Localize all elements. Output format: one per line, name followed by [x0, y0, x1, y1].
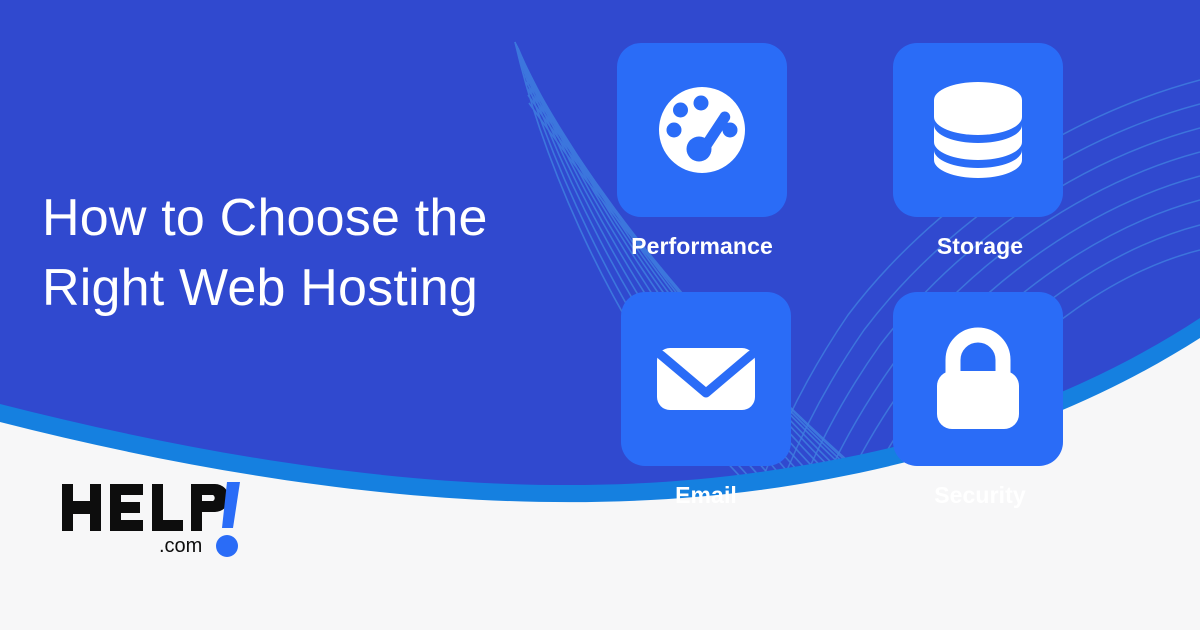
speedometer-icon — [647, 75, 757, 185]
logo-wordmark-shape — [62, 484, 229, 531]
feature-label-email: Email — [621, 481, 791, 509]
feature-label-storage: Storage — [897, 232, 1063, 260]
feature-grid: Performance Storage — [617, 43, 1067, 513]
feature-card-storage[interactable] — [893, 43, 1063, 217]
feature-performance[interactable]: Performance — [617, 43, 787, 260]
database-icon — [926, 78, 1030, 182]
banner-canvas: How to Choose the Right Web Hosting — [0, 0, 1200, 630]
feature-card-performance[interactable] — [617, 43, 787, 217]
feature-card-email[interactable] — [621, 292, 791, 466]
feature-security[interactable]: Security — [893, 292, 1063, 509]
padlock-icon — [926, 325, 1030, 433]
logo-domain-suffix: .com — [159, 535, 202, 557]
feature-card-security[interactable] — [893, 292, 1063, 466]
feature-email[interactable]: Email — [621, 292, 791, 509]
page-title: How to Choose the Right Web Hosting — [42, 183, 582, 323]
feature-label-performance: Performance — [617, 232, 787, 260]
feature-storage[interactable]: Storage — [893, 43, 1063, 260]
envelope-icon — [651, 324, 761, 434]
feature-label-security: Security — [897, 481, 1063, 509]
logo[interactable]: .com — [60, 478, 240, 562]
